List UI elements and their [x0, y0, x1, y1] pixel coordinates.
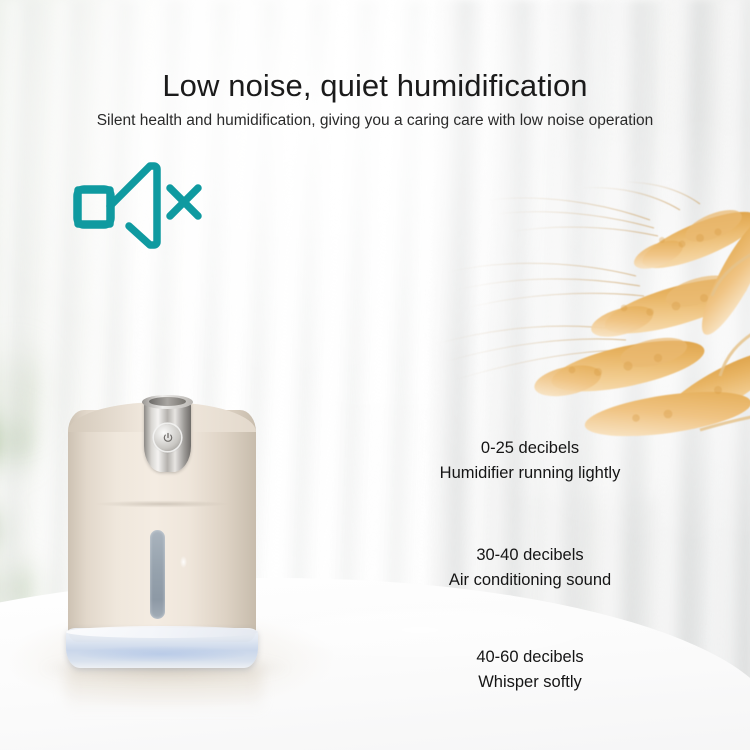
water-level-window [150, 530, 165, 619]
page-subtitle: Silent health and humidification, giving… [0, 112, 750, 130]
base-rim [66, 626, 258, 638]
humidifier-seam [69, 500, 255, 508]
mute-speaker-icon [66, 158, 206, 253]
noise-level-item: 40-60 decibels Whisper softly [390, 645, 670, 695]
base-glow [78, 646, 246, 662]
noise-level-value: 40-60 decibels [390, 645, 670, 670]
noise-level-item: 30-40 decibels Air conditioning sound [390, 543, 670, 593]
noise-level-description: Humidifier running lightly [390, 461, 670, 486]
power-button[interactable] [154, 424, 181, 451]
humidifier-product [62, 396, 262, 668]
noise-level-value: 30-40 decibels [390, 543, 670, 568]
nozzle-opening [149, 397, 186, 406]
noise-level-description: Air conditioning sound [390, 568, 670, 593]
noise-level-item: 0-25 decibels Humidifier running lightly [390, 436, 670, 486]
body-highlight [180, 556, 187, 568]
page-title: Low noise, quiet humidification [0, 68, 750, 104]
product-feature-banner: Low noise, quiet humidification Silent h… [0, 0, 750, 750]
product-reflection [66, 666, 262, 720]
noise-level-description: Whisper softly [390, 670, 670, 695]
noise-level-value: 0-25 decibels [390, 436, 670, 461]
power-button-icon [162, 432, 174, 444]
